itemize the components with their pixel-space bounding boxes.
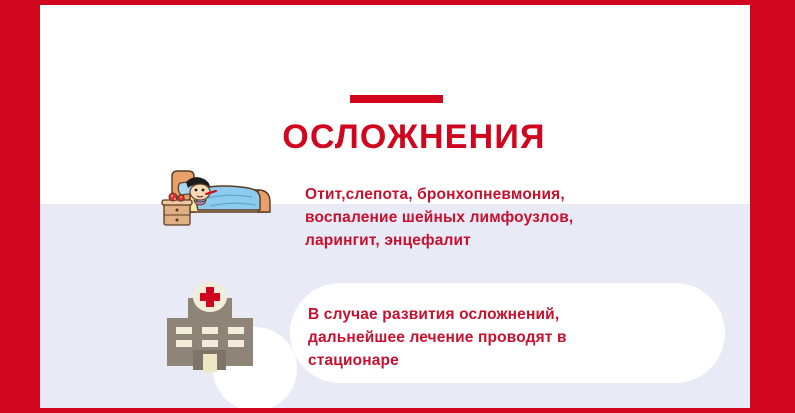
slide-canvas: ОСЛОЖНЕНИЯ (40, 5, 750, 408)
page-title: ОСЛОЖНЕНИЯ (40, 118, 750, 156)
treatment-text: В случае развития осложнений, дальнейшее… (308, 303, 708, 372)
sick-person-in-bed-icon (160, 168, 290, 230)
treatment-line-1: В случае развития осложнений, (308, 303, 708, 326)
complications-line-2: воспаление шейных лимфоузлов, (305, 206, 717, 229)
treatment-line-2: дальнейшее лечение проводят в (308, 326, 708, 349)
treatment-line-3: стационаре (308, 349, 708, 372)
complications-text: Отит,слепота, бронхопневмония, воспалени… (305, 183, 717, 252)
hospital-building-icon (155, 280, 265, 375)
complications-line-3: ларингит, энцефалит (305, 229, 717, 252)
complications-line-1: Отит,слепота, бронхопневмония, (305, 183, 717, 206)
slide-root: ОСЛОЖНЕНИЯ (0, 0, 795, 413)
title-accent-bar (350, 95, 443, 103)
